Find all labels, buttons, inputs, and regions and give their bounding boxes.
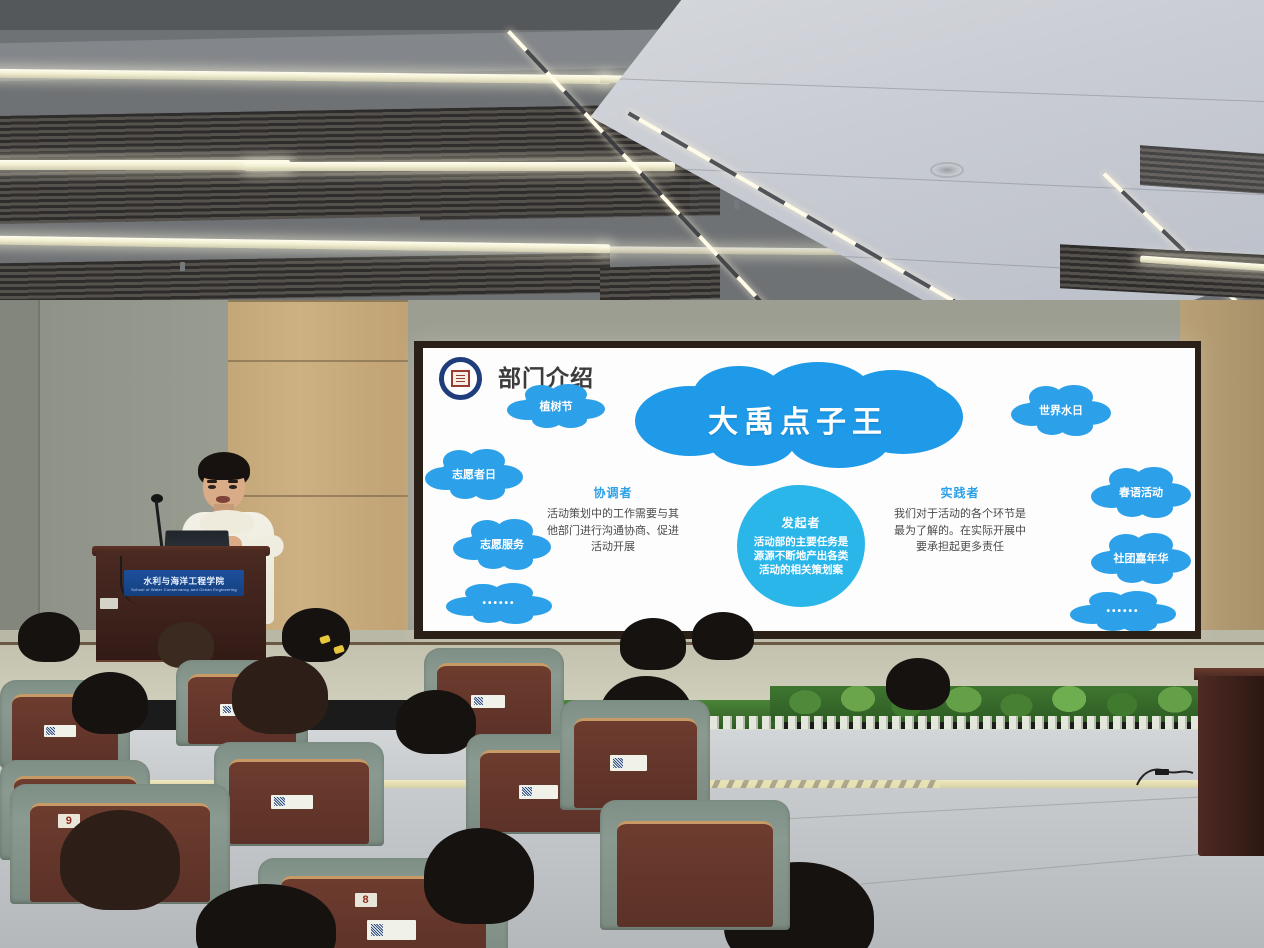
audience-head <box>886 658 950 710</box>
podium-sign-chinese: 水利与海洋工程学院 <box>143 575 224 587</box>
audience-head <box>232 656 328 734</box>
slide-column-practitioner: 实践者 我们对于活动的各个环节是最为了解的。在实际开展中要承担起更多责任 <box>893 484 1027 556</box>
led-screen-bezel: 部门介绍 植树节 志愿者日 志愿服务 •••••• <box>414 341 1201 639</box>
podium-control-plate <box>100 598 118 609</box>
auditorium-seat[interactable] <box>560 700 710 810</box>
audience-head <box>282 608 350 662</box>
seat-qr-label <box>610 755 647 771</box>
ceiling-round-diffuser <box>930 162 964 178</box>
sprinkler-icon-3 <box>180 262 185 271</box>
ceiling-light-strip-1 <box>0 69 610 84</box>
seat-cushion <box>229 759 368 844</box>
wall-wood-seam-1 <box>228 360 408 362</box>
speaker-mouth <box>216 496 230 503</box>
column-body: 活动策划中的工作需要与其他部门进行沟通协商、促进活动开展 <box>547 506 679 556</box>
center-blob-body: 活动部的主要任务是源源不断地产出各类活动的相关策划案 <box>749 536 853 578</box>
column-heading-2: 实践者 <box>893 484 1027 501</box>
audience-head <box>60 810 180 910</box>
auditorium-seat[interactable] <box>214 742 384 846</box>
secondary-podium <box>1198 676 1264 856</box>
cloud-label-right-1: 世界水日 <box>1023 396 1099 426</box>
cloud-label-left-1: 植树节 <box>519 394 593 420</box>
cloud-label-right-4: •••••• <box>1083 600 1163 624</box>
ceiling-light-strip-3 <box>0 236 610 254</box>
speaker-brow-left <box>207 480 217 483</box>
cloud-label-right-3: 社团嘉年华 <box>1103 544 1179 574</box>
ceiling-light-strip-2c <box>245 162 675 171</box>
cloud-label-left-3: 志愿服务 <box>465 530 539 560</box>
podium-sign-english: School of Water Conservancy and Ocean En… <box>131 587 237 592</box>
slide-hero-cloud: 大禹点子王 <box>669 392 927 446</box>
seat-qr-label <box>367 920 416 939</box>
seat-number-label: 8 <box>355 893 377 907</box>
speaker-eye-left <box>208 485 216 489</box>
seat-qr-label <box>471 695 505 708</box>
sprinkler-icon <box>734 200 739 209</box>
podium-school-sign: 水利与海洋工程学院 School of Water Conservancy an… <box>124 570 244 596</box>
seat-qr-label <box>519 785 558 799</box>
audience-head <box>396 690 476 754</box>
seat-qr-label <box>271 795 313 810</box>
slide-column-coordinator: 协调者 活动策划中的工作需要与其他部门进行沟通协商、促进活动开展 <box>547 484 679 556</box>
presentation-slide: 部门介绍 植树节 志愿者日 志愿服务 •••••• <box>423 348 1195 631</box>
audience-head <box>692 612 754 660</box>
center-blob-title: 发起者 <box>781 514 820 531</box>
cloud-label-right-2: 春语活动 <box>1103 478 1179 508</box>
speaker-brow-right <box>228 480 238 483</box>
speaker-hair-front <box>200 462 248 480</box>
ceiling-panel-seam-1 <box>600 78 1264 103</box>
ceiling-slat-panel-lower-right <box>600 265 720 302</box>
column-body-2: 我们对于活动的各个环节是最为了解的。在实际开展中要承担起更多责任 <box>893 506 1027 556</box>
seat-qr-label <box>44 725 76 737</box>
column-heading: 协调者 <box>547 484 679 501</box>
slide-center-blob: 发起者 活动部的主要任务是源源不断地产出各类活动的相关策划案 <box>737 485 865 607</box>
cloud-label-left-2: 志愿者日 <box>437 460 511 490</box>
slide-hero-label: 大禹点子王 <box>708 397 888 441</box>
seat-cushion <box>574 718 697 808</box>
lecture-hall-scene: 部门介绍 植树节 志愿者日 志愿服务 •••••• <box>0 0 1264 948</box>
university-emblem-icon <box>439 357 482 400</box>
seat-cushion <box>617 821 773 928</box>
audience-head <box>72 672 148 734</box>
auditorium-seat[interactable] <box>600 800 790 930</box>
audience-head <box>424 828 534 924</box>
audience-head <box>18 612 80 662</box>
cloud-label-left-4: •••••• <box>459 592 539 616</box>
ceiling <box>0 0 1264 340</box>
stage-cable-icon <box>1135 765 1197 787</box>
ceiling-slat-panel-lower <box>0 253 610 304</box>
speaker-eye-right <box>229 485 237 489</box>
audience-head <box>620 618 686 670</box>
